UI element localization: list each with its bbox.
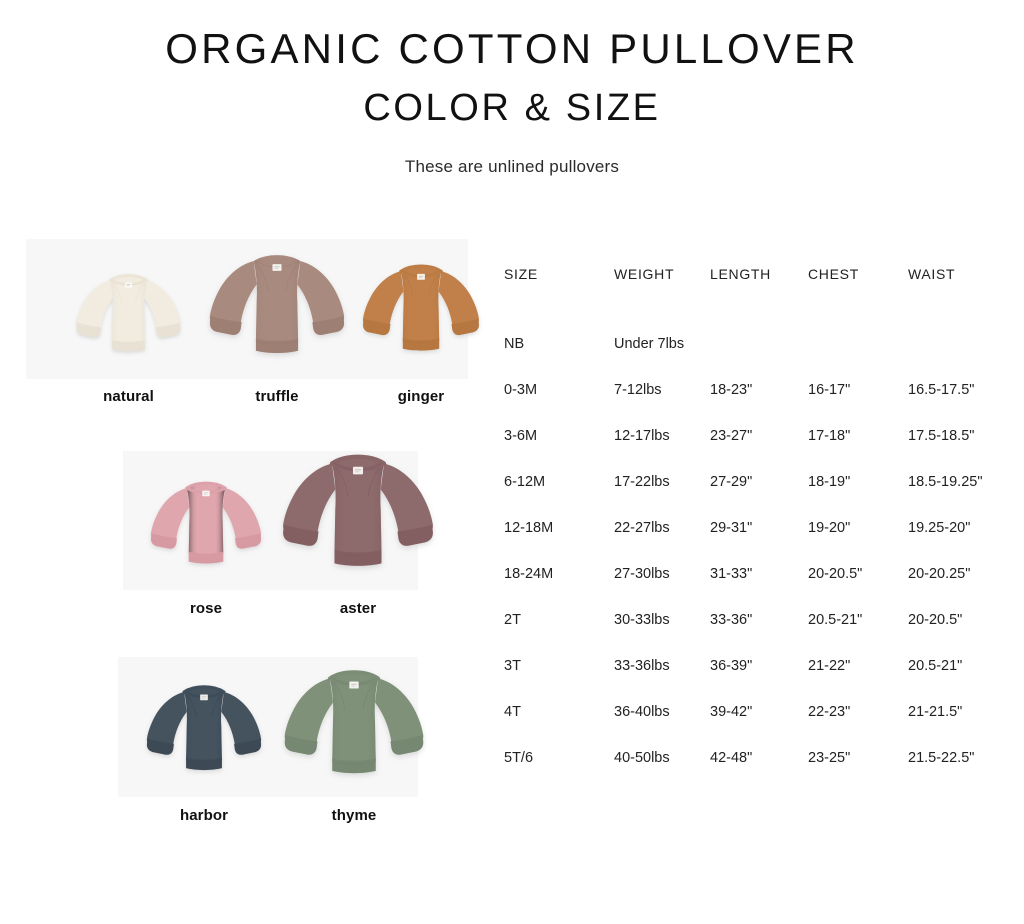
column-header-length: LENGTH	[710, 264, 808, 321]
size-chart-table: SIZE WEIGHT LENGTH CHEST WAIST NBUnder 7…	[504, 264, 1004, 781]
column-header-chest: CHEST	[808, 264, 908, 321]
size-cell: NB	[504, 321, 614, 367]
waist-cell: 16.5-17.5"	[908, 367, 1004, 413]
column-header-weight: WEIGHT	[614, 264, 710, 321]
length-cell: 39-42"	[710, 689, 808, 735]
swatch-panel-row-2	[123, 451, 418, 590]
swatch-label-ginger: ginger	[356, 388, 486, 405]
page-header: ORGANIC COTTON PULLOVER COLOR & SIZE The…	[0, 0, 1024, 177]
chest-cell	[808, 321, 908, 367]
swatch-label-thyme: thyme	[280, 807, 428, 824]
chest-cell: 16-17"	[808, 367, 908, 413]
weight-cell: 27-30lbs	[614, 551, 710, 597]
length-cell: 31-33"	[710, 551, 808, 597]
table-row: 6-12M17-22lbs27-29"18-19"18.5-19.25"	[504, 459, 1004, 505]
weight-cell: 33-36lbs	[614, 643, 710, 689]
sweater-illustration	[274, 434, 442, 590]
column-header-waist: WAIST	[908, 264, 1004, 321]
length-cell: 42-48"	[710, 735, 808, 781]
table-row: 5T/640-50lbs42-48"23-25"21.5-22.5"	[504, 735, 1004, 781]
length-cell: 33-36"	[710, 597, 808, 643]
waist-cell: 17.5-18.5"	[908, 413, 1004, 459]
color-swatch-ginger[interactable]	[356, 239, 486, 379]
waist-cell: 18.5-19.25"	[908, 459, 1004, 505]
waist-cell	[908, 321, 1004, 367]
chest-cell: 18-19"	[808, 459, 908, 505]
sweater-illustration	[140, 661, 268, 797]
color-swatch-aster[interactable]	[283, 451, 433, 590]
length-cell: 23-27"	[710, 413, 808, 459]
size-cell: 6-12M	[504, 459, 614, 505]
brand-tag-icon	[417, 274, 425, 280]
brand-tag-icon	[353, 467, 363, 475]
table-row: 12-18M22-27lbs29-31"19-20"19.25-20"	[504, 505, 1004, 551]
length-cell: 29-31"	[710, 505, 808, 551]
sweater-illustration	[70, 249, 186, 379]
column-header-size: SIZE	[504, 264, 614, 321]
weight-cell: 17-22lbs	[614, 459, 710, 505]
weight-cell: Under 7lbs	[614, 321, 710, 367]
table-row: 4T36-40lbs39-42"22-23"21-21.5"	[504, 689, 1004, 735]
table-row: 2T30-33lbs33-36"20.5-21"20-20.5"	[504, 597, 1004, 643]
sweater-illustration	[276, 650, 431, 797]
page-title: ORGANIC COTTON PULLOVER	[0, 0, 1024, 72]
chest-cell: 22-23"	[808, 689, 908, 735]
color-swatch-natural[interactable]	[66, 239, 191, 379]
swatch-label-harbor: harbor	[138, 807, 270, 824]
swatch-panel-row-3	[118, 657, 418, 797]
brand-tag-icon	[200, 695, 208, 701]
sweater-illustration	[202, 231, 353, 379]
weight-cell: 30-33lbs	[614, 597, 710, 643]
swatch-panel-row-1	[26, 239, 468, 379]
color-swatch-truffle[interactable]	[206, 239, 348, 379]
weight-cell: 7-12lbs	[614, 367, 710, 413]
size-cell: 3T	[504, 643, 614, 689]
waist-cell: 21.5-22.5"	[908, 735, 1004, 781]
length-cell: 18-23"	[710, 367, 808, 413]
swatch-label-natural: natural	[66, 388, 191, 405]
size-cell: 0-3M	[504, 367, 614, 413]
color-swatch-thyme[interactable]	[280, 657, 428, 797]
weight-cell: 36-40lbs	[614, 689, 710, 735]
weight-cell: 12-17lbs	[614, 413, 710, 459]
table-row: NBUnder 7lbs	[504, 321, 1004, 367]
waist-cell: 21-21.5"	[908, 689, 1004, 735]
size-cell: 2T	[504, 597, 614, 643]
swatch-label-truffle: truffle	[206, 388, 348, 405]
waist-cell: 20-20.25"	[908, 551, 1004, 597]
size-cell: 12-18M	[504, 505, 614, 551]
table-row: 18-24M27-30lbs31-33"20-20.5"20-20.25"	[504, 551, 1004, 597]
brand-tag-icon	[272, 264, 281, 271]
waist-cell: 20.5-21"	[908, 643, 1004, 689]
chest-cell: 21-22"	[808, 643, 908, 689]
chest-cell: 17-18"	[808, 413, 908, 459]
length-cell: 27-29"	[710, 459, 808, 505]
size-cell: 18-24M	[504, 551, 614, 597]
length-cell: 36-39"	[710, 643, 808, 689]
chest-cell: 20.5-21"	[808, 597, 908, 643]
chest-cell: 19-20"	[808, 505, 908, 551]
color-swatch-harbor[interactable]	[138, 657, 270, 797]
chest-cell: 23-25"	[808, 735, 908, 781]
page-subtitle: COLOR & SIZE	[0, 72, 1024, 130]
brand-tag-icon	[349, 682, 358, 689]
sweater-illustration	[144, 458, 268, 590]
weight-cell: 40-50lbs	[614, 735, 710, 781]
swatch-label-aster: aster	[283, 600, 433, 617]
table-row: 3-6M12-17lbs23-27"17-18"17.5-18.5"	[504, 413, 1004, 459]
table-header-row: SIZE WEIGHT LENGTH CHEST WAIST	[504, 264, 1004, 321]
chest-cell: 20-20.5"	[808, 551, 908, 597]
sweater-illustration	[356, 239, 486, 379]
brand-tag-icon	[125, 283, 132, 288]
length-cell	[710, 321, 808, 367]
brand-tag-icon	[202, 491, 209, 497]
color-swatch-rose[interactable]	[141, 451, 271, 590]
size-cell: 5T/6	[504, 735, 614, 781]
weight-cell: 22-27lbs	[614, 505, 710, 551]
table-row: 3T33-36lbs36-39"21-22"20.5-21"	[504, 643, 1004, 689]
size-cell: 4T	[504, 689, 614, 735]
waist-cell: 20-20.5"	[908, 597, 1004, 643]
waist-cell: 19.25-20"	[908, 505, 1004, 551]
swatch-label-rose: rose	[141, 600, 271, 617]
table-row: 0-3M7-12lbs18-23"16-17"16.5-17.5"	[504, 367, 1004, 413]
page-note: These are unlined pullovers	[0, 130, 1024, 177]
size-cell: 3-6M	[504, 413, 614, 459]
